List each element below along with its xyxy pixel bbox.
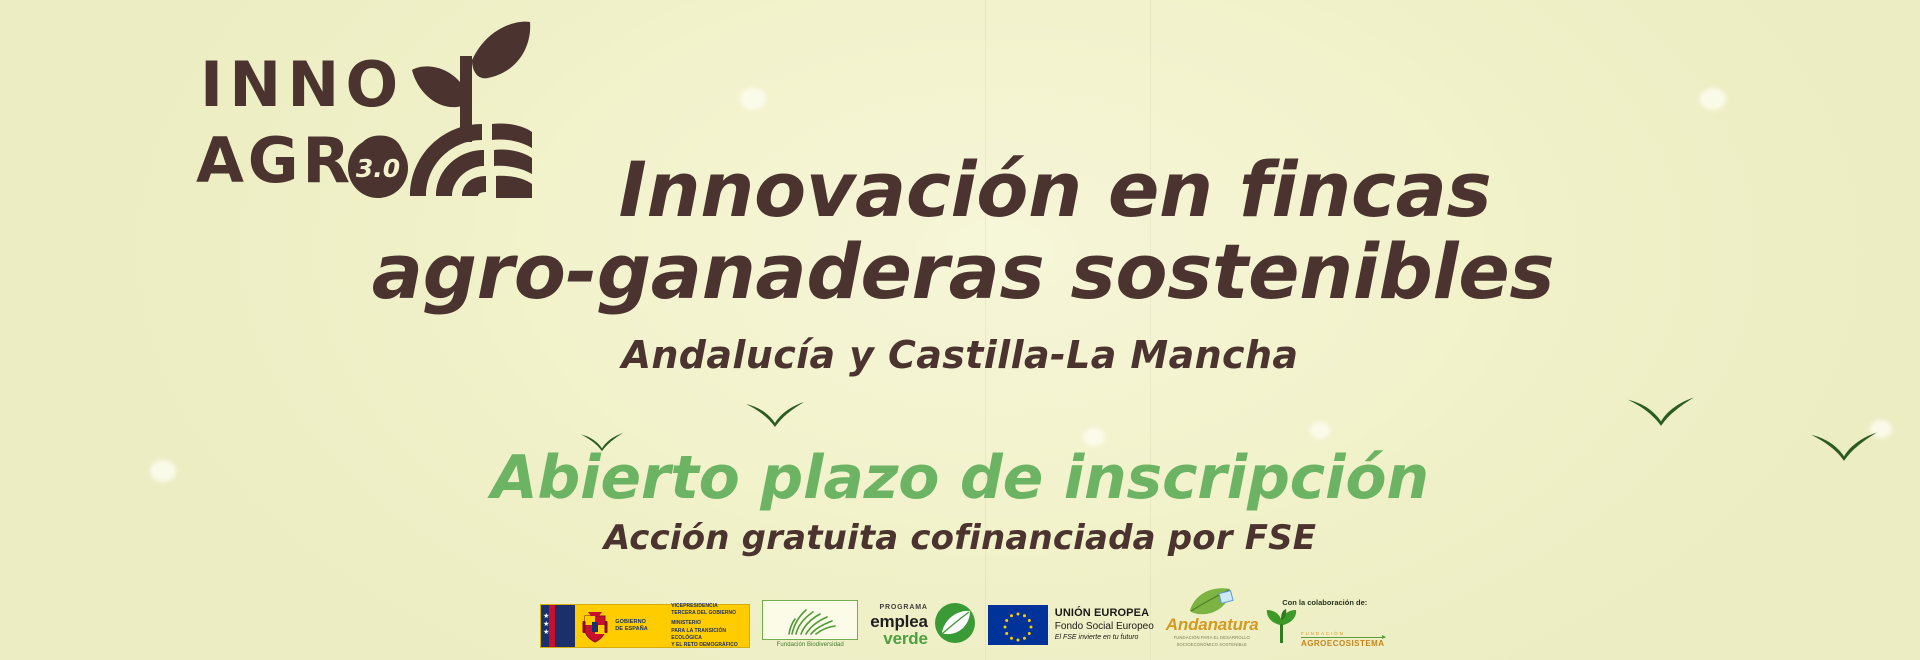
emplea-verde-word-1: emplea	[870, 613, 928, 630]
ministerio-line-3: Y EL RETO DEMOGRÁFICO	[671, 642, 745, 649]
emplea-verde-wordmark: PROGRAMA emplea verde	[870, 604, 928, 647]
bird-icon	[745, 398, 805, 428]
background-seam	[1150, 0, 1151, 660]
headline-line-2: agro-ganaderas sostenibles	[0, 231, 1920, 313]
ministerio-line-2: PARA LA TRANSICIÓN ECOLÓGICA	[671, 628, 745, 643]
logo-line-inno: INNO	[200, 54, 404, 116]
emplea-verde-programa-label: PROGRAMA	[870, 604, 928, 611]
andanatura-tagline-line-1: FUNDACIÓN PARA EL DESARROLLO	[1166, 635, 1258, 641]
bokeh-dot	[1310, 422, 1330, 439]
agroecosistema-name: AGROECOSISTEMA	[1301, 639, 1385, 648]
arrow-icon	[1301, 637, 1385, 638]
bokeh-dot	[740, 88, 766, 110]
bird-icon	[1625, 393, 1697, 427]
andanatura-wordmark: Andanatura	[1166, 616, 1258, 633]
vicepresidencia-line-2: TERCERA DEL GOBIERNO	[671, 610, 745, 617]
funding-note: Acción gratuita cofinanciada por FSE	[0, 518, 1920, 558]
collaboration-label: Con la colaboración de:	[1270, 598, 1380, 607]
logo-union-europea-fse: UNIÓN EUROPEA Fondo Social Europeo El FS…	[988, 602, 1154, 648]
gobierno-line-a: GOBIERNO	[615, 619, 648, 626]
ministerio-line-1: MINISTERIO	[671, 620, 745, 627]
union-europea-line: UNIÓN EUROPEA	[1055, 607, 1154, 621]
logo-fundacion-biodiversidad: Fundación Biodiversidad	[762, 600, 858, 648]
logo-fundacion-agroecosistema: Con la colaboración de: FUNDACIÓN AGROEC…	[1270, 598, 1380, 648]
green-leaf-icon	[934, 602, 976, 649]
spain-coat-of-arms-icon	[575, 605, 615, 647]
regions-subtitle: Andalucía y Castilla-La Mancha	[0, 333, 1920, 377]
agroecosistema-wordmark: FUNDACIÓN AGROECOSISTEMA	[1301, 631, 1385, 648]
ministry-text: VICEPRESIDENCIA TERCERA DEL GOBIERNO MIN…	[671, 605, 749, 647]
promo-banner: INNO AGRO 3.0	[0, 0, 1920, 660]
bokeh-dot	[1700, 88, 1726, 110]
gobierno-line-b: DE ESPAÑA	[615, 626, 648, 633]
background-seam	[985, 0, 986, 660]
andanatura-tagline: FUNDACIÓN PARA EL DESARROLLO SOCIOECONÓM…	[1166, 635, 1258, 648]
logo-emplea-verde: PROGRAMA emplea verde	[870, 602, 976, 648]
stars-icon: ★★★	[542, 613, 550, 637]
registration-open-title: Abierto plazo de inscripción	[0, 448, 1920, 508]
sponsor-logo-strip: ★★★ GOBIERNO DE	[0, 582, 1920, 648]
fse-slogan-line: El FSE invierte en tu futuro	[1055, 634, 1154, 643]
emplea-verde-word-2: verde	[870, 630, 928, 647]
fundacion-biodiversidad-caption: Fundación Biodiversidad	[762, 642, 858, 648]
eu-fse-wordmark: UNIÓN EUROPEA Fondo Social Europeo El FS…	[1055, 607, 1154, 643]
grass-icon	[762, 600, 858, 640]
andanatura-leaf-icon	[1166, 586, 1258, 616]
fondo-social-europeo-line: Fondo Social Europeo	[1055, 621, 1154, 634]
agroecosistema-plant-icon	[1265, 609, 1297, 648]
logo-andanatura: Andanatura FUNDACIÓN PARA EL DESARROLLO …	[1166, 586, 1258, 648]
logo-gobierno-de-espana: ★★★ GOBIERNO DE	[540, 604, 750, 648]
page-title: Innovación en fincas agro-ganaderas sost…	[0, 149, 1920, 313]
andanatura-tagline-line-2: SOCIOECONÓMICO SOSTENIBLE	[1166, 642, 1258, 648]
vicepresidencia-line-1: VICEPRESIDENCIA	[671, 603, 745, 610]
headline-line-1: Innovación en fincas	[0, 149, 1920, 231]
gobierno-wordmark: GOBIERNO DE ESPAÑA	[615, 605, 671, 647]
agroecosistema-fundacion-label: FUNDACIÓN	[1301, 631, 1385, 636]
european-union-flag-icon	[988, 605, 1048, 645]
spain-flag-icon: ★★★	[541, 605, 575, 647]
